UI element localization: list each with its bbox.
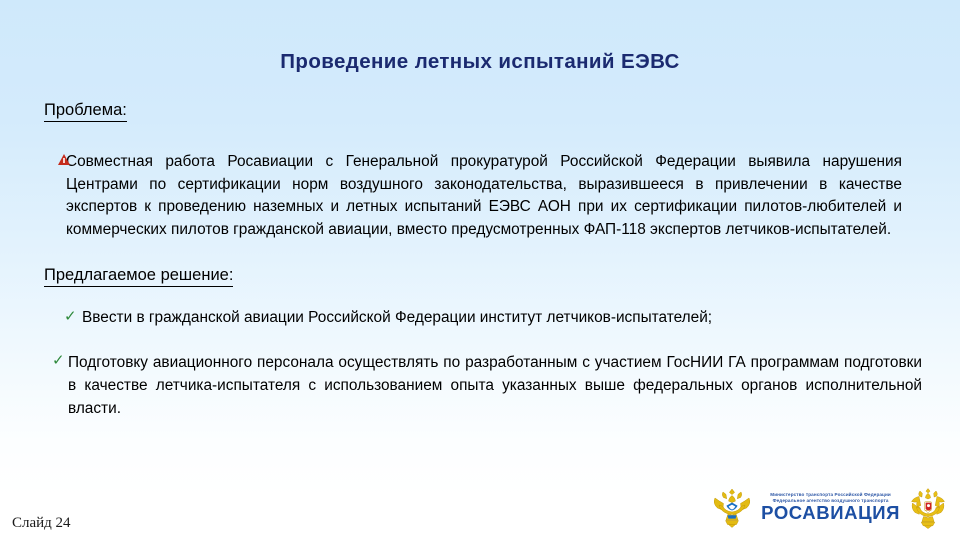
rosaviatsia-eagle-emblem [709,486,755,530]
solution-item-2-text: Подготовку авиационного персонала осущес… [68,354,922,417]
page-title: Проведение летных испытаний ЕЭВС [0,50,960,74]
solution-item-1-text: Ввести в гражданской авиации Российской … [82,309,712,326]
slide-content: Проблема: Совместная работа Росавиации с… [44,101,924,420]
brand-name: РОСАВИАЦИЯ [761,504,900,523]
problem-heading: Проблема: [44,101,127,122]
solution-heading: Предлагаемое решение: [44,266,233,287]
problem-paragraph: Совместная работа Росавиации с Генеральн… [44,151,902,242]
rosaviatsia-logo: Министерство транспорта Российской Федер… [709,484,950,532]
solution-list-item-1: ✓ Ввести в гражданской авиации Российско… [44,307,924,330]
russian-coat-of-arms-emblem [906,486,950,530]
check-icon: ✓ [64,309,77,324]
brand-text-block: Министерство транспорта Российской Федер… [761,493,900,523]
problem-text: Совместная работа Росавиации с Генеральн… [66,153,902,238]
problem-section-header: Проблема: [44,101,924,135]
presentation-slide: Проведение летных испытаний ЕЭВС Проблем… [0,0,960,540]
slide-number: Слайд 24 [12,515,71,532]
solution-list-item-2: ✓ Подготовку авиационного персонала осущ… [44,351,922,420]
solution-section-header: Предлагаемое решение: [44,266,924,287]
warning-triangle-icon [58,154,70,165]
check-icon: ✓ [52,353,65,368]
